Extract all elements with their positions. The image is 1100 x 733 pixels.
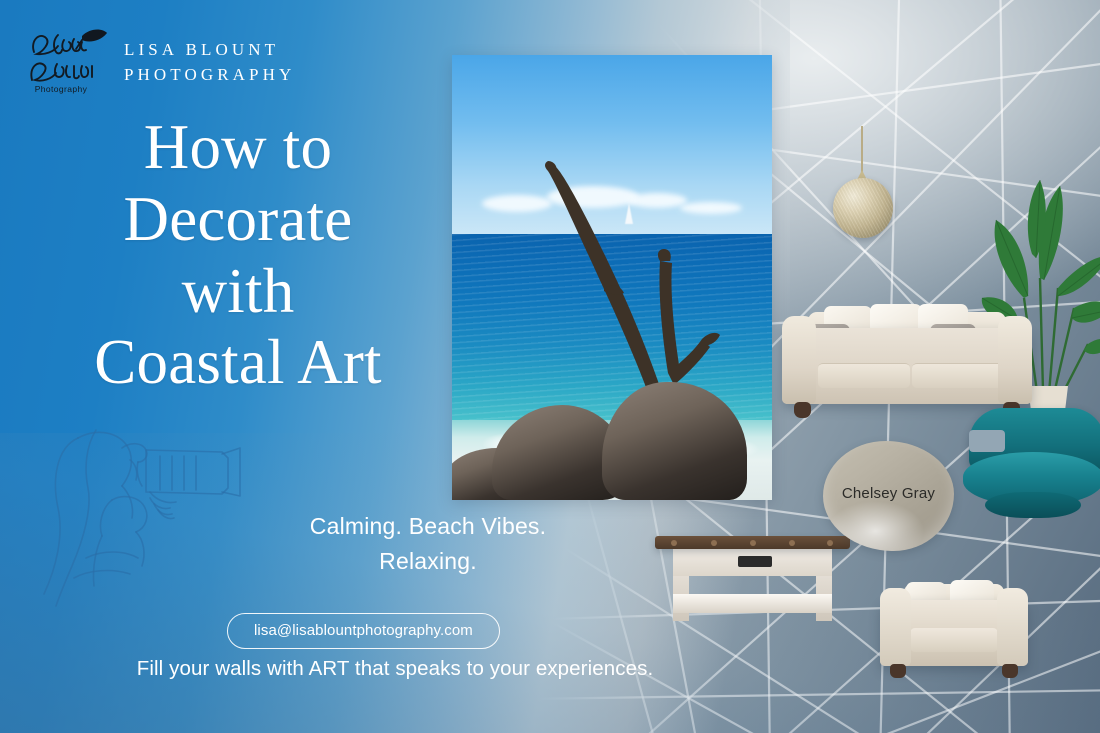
- teal-chair-base: [985, 492, 1081, 518]
- cream-sofa: [782, 278, 1032, 418]
- poster-canvas: Photography LISA BLOUNT PHOTOGRAPHY How …: [0, 0, 1100, 733]
- sofa-arm-left: [782, 316, 816, 404]
- armchair-leg: [1002, 664, 1018, 678]
- brand-name-line2: PHOTOGRAPHY: [124, 65, 295, 85]
- footer-tagline: Fill your walls with ART that speaks to …: [0, 657, 790, 681]
- console-stud: [711, 540, 717, 546]
- pendant-cord: [861, 126, 863, 174]
- sofa-leg: [794, 402, 811, 418]
- vibes-tagline: Calming. Beach Vibes. Relaxing.: [228, 509, 628, 578]
- headline-line-2: Decorate: [28, 184, 448, 256]
- console-drawer-pull: [738, 556, 772, 567]
- armchair-leg: [890, 664, 906, 678]
- console-stud: [750, 540, 756, 546]
- headline-line-4: Coastal Art: [28, 327, 448, 399]
- teal-velvet-swivel-chair: [955, 408, 1100, 530]
- headline-line-1: How to: [28, 112, 448, 184]
- console-stud: [789, 540, 795, 546]
- sofa-seat-cushion: [818, 363, 910, 388]
- paint-swatch: Chelsey Gray: [823, 441, 954, 551]
- pendant-globe: [833, 178, 893, 238]
- sofa-arm-right: [998, 316, 1032, 404]
- lisa-blount-script-logo-icon: Photography: [24, 22, 110, 98]
- vibes-line-1: Calming. Beach Vibes.: [228, 509, 628, 544]
- email-contact-pill[interactable]: lisa@lisablountphotography.com: [227, 613, 500, 649]
- email-text: lisa@lisablountphotography.com: [254, 622, 473, 639]
- console-stud: [671, 540, 677, 546]
- armchair-seat-cushion: [910, 628, 998, 652]
- brand-logo-block: Photography LISA BLOUNT PHOTOGRAPHY: [24, 22, 295, 98]
- console-lower-shelf: [673, 594, 832, 613]
- page-title: How to Decorate with Coastal Art: [28, 112, 448, 399]
- pendant-light: [817, 126, 907, 250]
- cream-armchair: [880, 552, 1028, 678]
- distressed-console-table: [655, 530, 850, 630]
- photographer-line-art-icon: [26, 408, 256, 613]
- vibes-line-2: Relaxing.: [228, 544, 628, 579]
- teal-chair-notch: [969, 430, 1005, 452]
- svg-text:Photography: Photography: [35, 84, 88, 94]
- coastal-photo: [452, 55, 772, 500]
- headline-line-3: with: [28, 256, 448, 328]
- console-stud: [827, 540, 833, 546]
- paint-swatch-label: Chelsey Gray: [842, 485, 935, 502]
- armchair-arm-left: [880, 588, 911, 666]
- armchair-arm-right: [997, 588, 1028, 666]
- brand-wordmark: LISA BLOUNT PHOTOGRAPHY: [124, 36, 295, 85]
- sofa-seat-cushion: [912, 363, 1004, 388]
- brand-name-line1: LISA BLOUNT: [124, 40, 295, 60]
